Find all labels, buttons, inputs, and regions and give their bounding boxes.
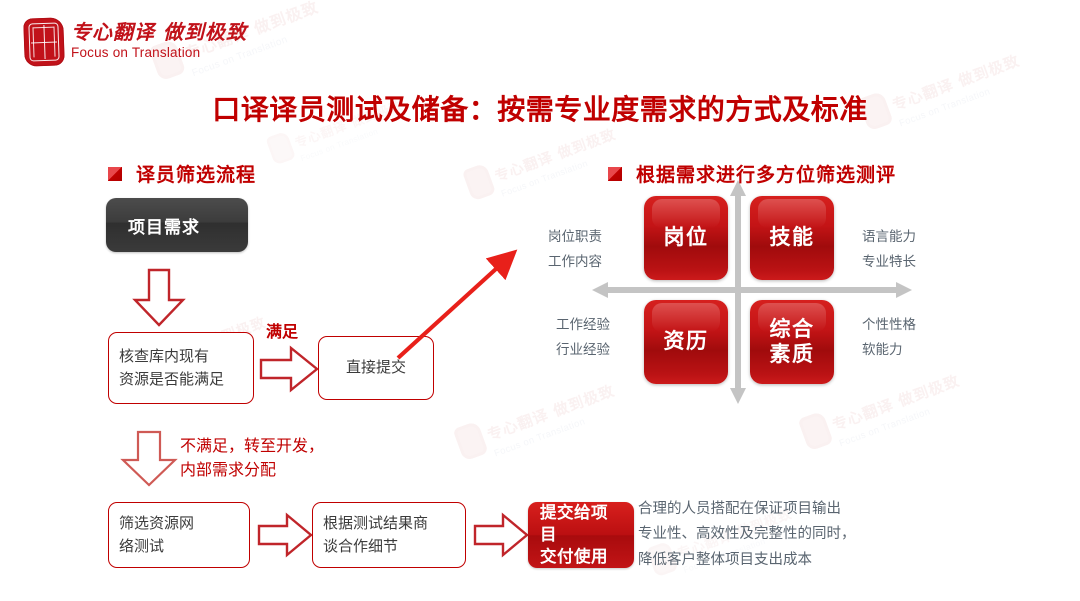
left-section-title: 译员筛选流程 [136,160,256,187]
watermark-en: Focus on Translation [500,146,623,199]
label-right-top-line1: 语言能力 [862,225,916,250]
watermark-seal-icon [462,163,496,202]
right-section-title: 根据需求进行多方位筛选测评 [636,160,896,187]
label-right-bottom-line1: 个性性格 [862,313,916,338]
label-left-bottom: 工作经验 行业经验 [556,313,610,363]
seal-stamp-icon [23,17,65,66]
label-not-satisfied-line1: 不满足，转至开发， [180,434,324,458]
arrow-right-outline-icon [472,512,530,558]
right-section-heading: 根据需求进行多方位筛选测评 [608,160,896,187]
quadrant-comprehensive[interactable]: 综合 素质 [750,300,834,384]
quadrant-comprehensive-line2: 素质 [770,342,815,367]
label-left-top-line1: 岗位职责 [548,225,602,250]
label-left-bottom-line1: 工作经验 [556,313,610,338]
node-screen-test[interactable]: 筛选资源网 络测试 [108,502,250,568]
label-right-top: 语言能力 专业特长 [862,225,916,275]
node-deliver-line1: 提交给项目 [540,502,622,547]
brand-text: 专心翻译 做到极致 Focus on Translation [71,18,247,60]
summary-note-line3: 降低客户整体项目支出成本 [638,548,856,573]
double-arrow-horizontal-icon [592,280,912,300]
brand-logo: 专心翻译 做到极致 Focus on Translation [24,18,247,66]
summary-note-line1: 合理的人员搭配在保证项目输出 [638,497,856,522]
watermark-seal-icon [453,421,489,462]
watermark-seal-icon [265,131,296,166]
label-not-satisfied: 不满足，转至开发， 内部需求分配 [180,434,324,482]
brand-slogan-en: Focus on Translation [71,45,247,60]
double-arrow-vertical-icon [728,180,748,404]
brand-slogan-cn: 专心翻译 做到极致 [71,21,247,44]
node-screen-test-line1: 筛选资源网 [119,512,194,535]
node-negotiate[interactable]: 根据测试结果商 谈合作细节 [312,502,466,568]
gloss-overlay [652,303,719,332]
node-negotiate-line1: 根据测试结果商 [323,512,428,535]
label-right-bottom: 个性性格 软能力 [862,313,916,363]
node-deliver[interactable]: 提交给项目 交付使用 [528,502,634,568]
arrow-diagonal-red-icon [390,248,520,368]
watermark-en: Focus on Translation [838,393,968,449]
quadrant-experience-label: 资历 [664,329,709,354]
watermark-cn: 专心翻译 做到极致 [829,369,962,435]
watermark: 专心翻译 做到极致 Focus on Translation [462,117,623,209]
node-screen-test-line2: 络测试 [119,535,164,558]
summary-note: 合理的人员搭配在保证项目输出 专业性、高效性及完整性的同时， 降低客户整体项目支… [638,497,856,573]
node-check-pool[interactable]: 核查库内现有 资源是否能满足 [108,332,254,404]
quadrant-comprehensive-line1: 综合 [770,317,815,342]
summary-note-line2: 专业性、高效性及完整性的同时， [638,522,856,547]
arrow-down-outline-icon [118,430,184,488]
arrow-down-outline-icon [128,268,190,328]
node-project-need[interactable]: 项目需求 [106,198,248,252]
node-check-pool-line2: 资源是否能满足 [119,368,224,391]
watermark-en: Focus on Translation [493,403,623,459]
arrow-right-outline-icon [256,512,314,558]
label-right-bottom-line2: 软能力 [862,338,916,363]
watermark: 专心翻译 做到极致 Focus on Translation [453,373,623,470]
page-title: 口译译员测试及储备：按需专业度需求的方式及标准 [0,88,1080,128]
node-deliver-line2: 交付使用 [540,546,608,568]
left-section-heading: 译员筛选流程 [108,160,256,187]
label-not-satisfied-line2: 内部需求分配 [180,458,324,482]
arrow-right-outline-icon [258,345,320,393]
quadrant-skill[interactable]: 技能 [750,196,834,280]
quadrant-position-label: 岗位 [664,225,709,250]
watermark-seal-icon [798,411,834,452]
square-bullet-icon [608,167,622,181]
gloss-overlay [758,199,825,228]
label-left-bottom-line2: 行业经验 [556,338,610,363]
label-left-top-line2: 工作内容 [548,250,602,275]
watermark-cn: 专心翻译 做到极致 [492,123,619,185]
quadrant-experience[interactable]: 资历 [644,300,728,384]
quadrant-position[interactable]: 岗位 [644,196,728,280]
label-left-top: 岗位职责 工作内容 [548,225,602,275]
watermark-cn: 专心翻译 做到极致 [484,379,617,445]
slide-canvas: 专心翻译 做到极致 Focus on Translation 专心翻译 做到极致… [0,0,1080,601]
square-bullet-icon [108,167,122,181]
quadrant-skill-label: 技能 [770,225,815,250]
label-right-top-line2: 专业特长 [862,250,916,275]
gloss-overlay [652,199,719,228]
node-check-pool-line1: 核查库内现有 [119,345,209,368]
node-project-need-label: 项目需求 [128,213,200,238]
seal-grid [28,22,59,61]
label-satisfied: 满足 [266,318,298,342]
node-negotiate-line2: 谈合作细节 [323,535,398,558]
